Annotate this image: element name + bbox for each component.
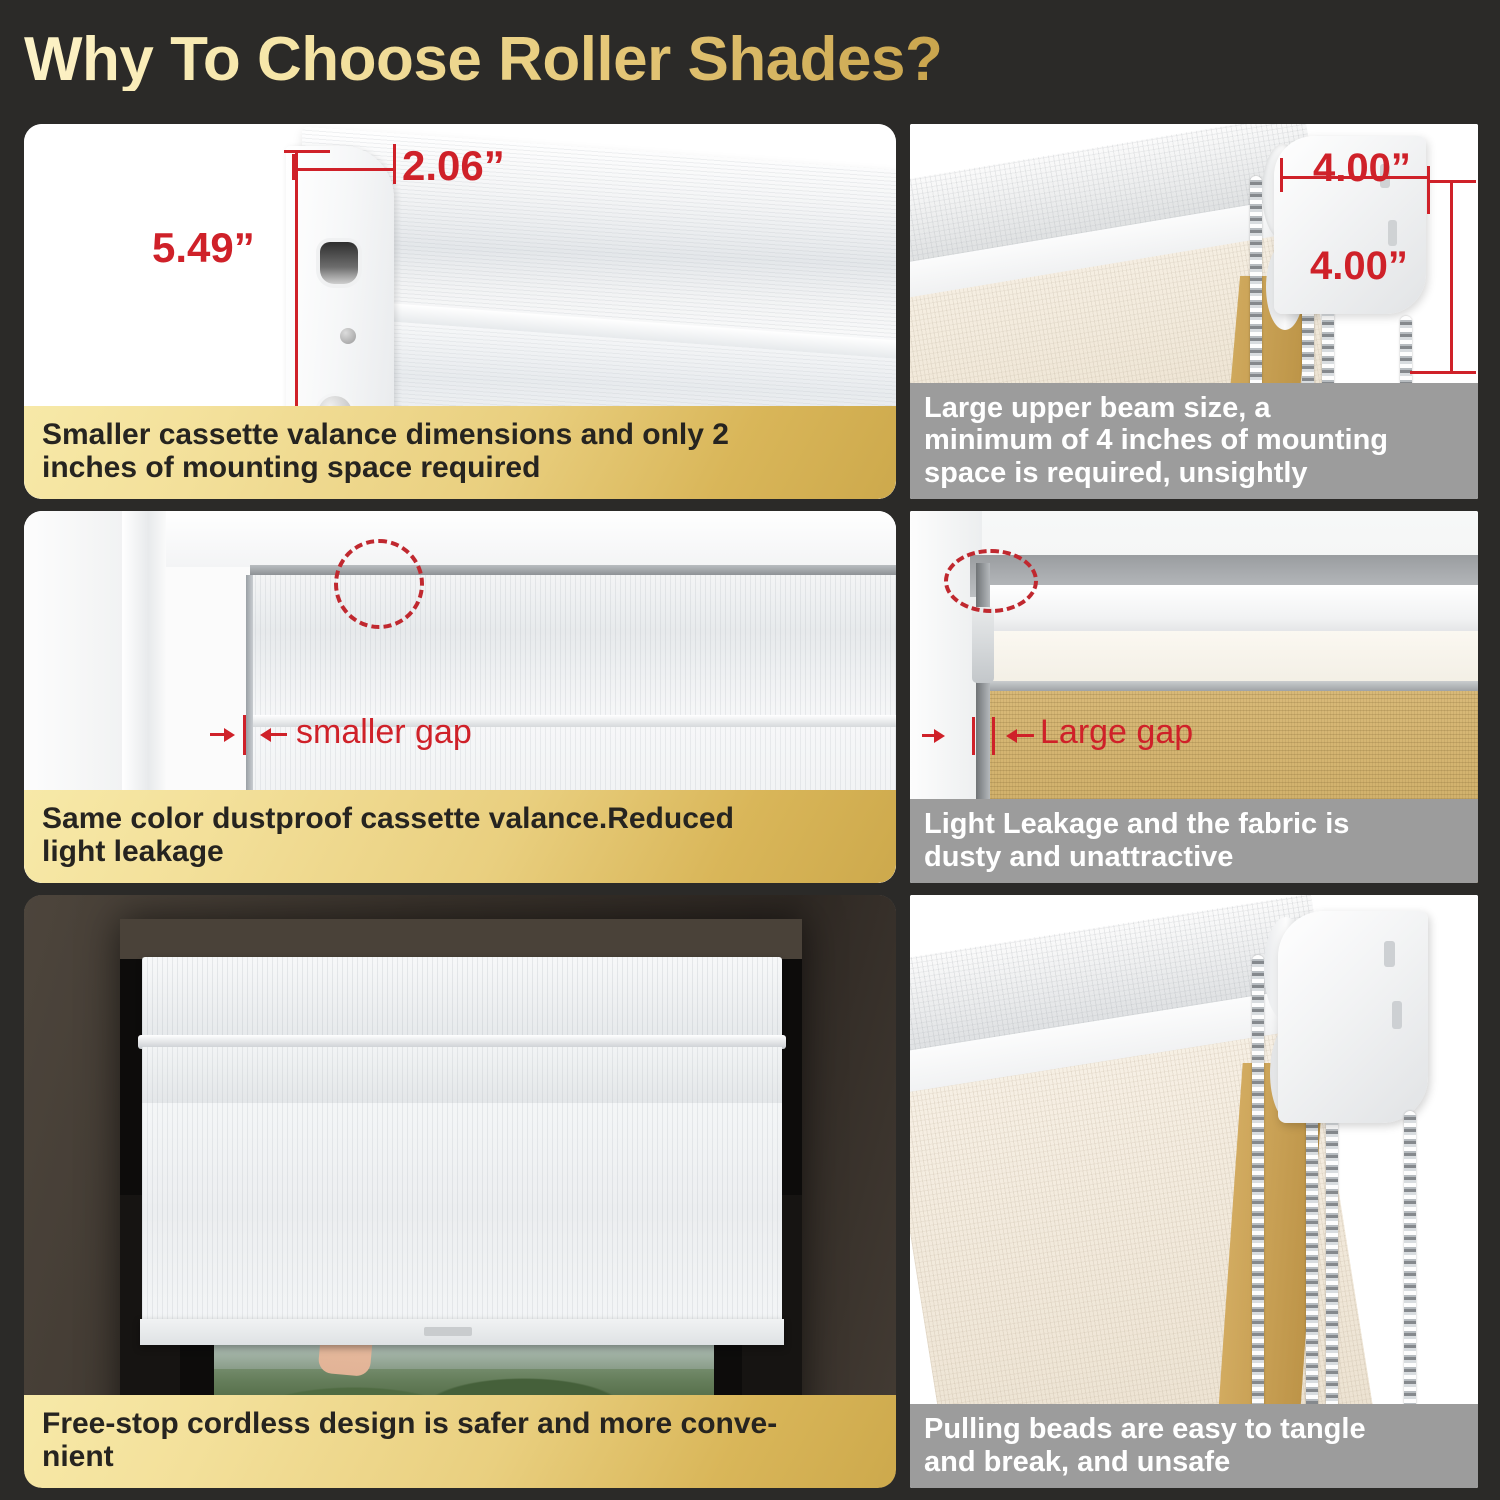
panel-con-large-gap[interactable]: Large gap Light Leakage and the fabric i…	[910, 511, 1478, 883]
caption-line: Free-stop cordless design is safer and m…	[42, 1407, 878, 1441]
dimension-line-height	[1450, 180, 1453, 374]
dimension-label-height: 5.49”	[152, 224, 255, 272]
annotation-smaller-gap: smaller gap	[296, 713, 472, 752]
panel-con-pulling-beads[interactable]: Pulling beads are easy to tangle and bre…	[910, 895, 1478, 1488]
panel-pro-cassette-dimensions[interactable]: 2.06” 5.49” Smaller cassette valance dim…	[24, 124, 896, 499]
caption-pro-smaller-gap: Same color dustproof cassette valance.Re…	[24, 790, 896, 883]
page-title: Why To Choose Roller Shades?	[24, 29, 942, 91]
caption-line: and break, and unsafe	[924, 1446, 1464, 1478]
panel-pro-cordless-design[interactable]: Free-stop cordless design is safer and m…	[24, 895, 896, 1488]
dimension-line-width	[292, 168, 396, 171]
caption-line: Large upper beam size, a	[924, 392, 1464, 424]
annotation-large-gap: Large gap	[1040, 713, 1193, 752]
dimension-label-width: 4.00”	[1313, 146, 1411, 191]
panel-con-large-upper-beam[interactable]: 4.00” 4.00” Large upper beam size, a min…	[910, 124, 1478, 499]
dimension-label-height: 4.00”	[1310, 244, 1408, 289]
caption-line: Same color dustproof cassette valance.Re…	[42, 802, 878, 836]
highlight-circle-icon	[334, 539, 424, 629]
comparison-grid: 2.06” 5.49” Smaller cassette valance dim…	[0, 112, 1500, 1500]
caption-line: inches of mounting space required	[42, 451, 878, 485]
caption-con-large-gap: Light Leakage and the fabric is dusty an…	[910, 799, 1478, 883]
highlight-circle-icon	[944, 549, 1038, 613]
dimension-label-width: 2.06”	[402, 142, 505, 190]
caption-line: nient	[42, 1440, 878, 1474]
caption-con-pulling-beads: Pulling beads are easy to tangle and bre…	[910, 1404, 1478, 1488]
caption-line: light leakage	[42, 835, 878, 869]
panel-pro-smaller-gap[interactable]: smaller gap Same color dustproof cassett…	[24, 511, 896, 883]
caption-line: space is required, unsightly	[924, 457, 1464, 489]
product-photo-pulling-beads	[910, 895, 1478, 1488]
page-header: Why To Choose Roller Shades?	[24, 14, 1480, 106]
caption-con-large-upper-beam: Large upper beam size, a minimum of 4 in…	[910, 383, 1478, 499]
caption-line: dusty and unattractive	[924, 841, 1464, 873]
caption-line: Light Leakage and the fabric is	[924, 808, 1464, 840]
caption-pro-cordless-design: Free-stop cordless design is safer and m…	[24, 1395, 896, 1488]
caption-line: Smaller cassette valance dimensions and …	[42, 418, 878, 452]
caption-pro-cassette-dimensions: Smaller cassette valance dimensions and …	[24, 406, 896, 499]
caption-line: minimum of 4 inches of mounting	[924, 424, 1464, 456]
caption-line: Pulling beads are easy to tangle	[924, 1413, 1464, 1445]
